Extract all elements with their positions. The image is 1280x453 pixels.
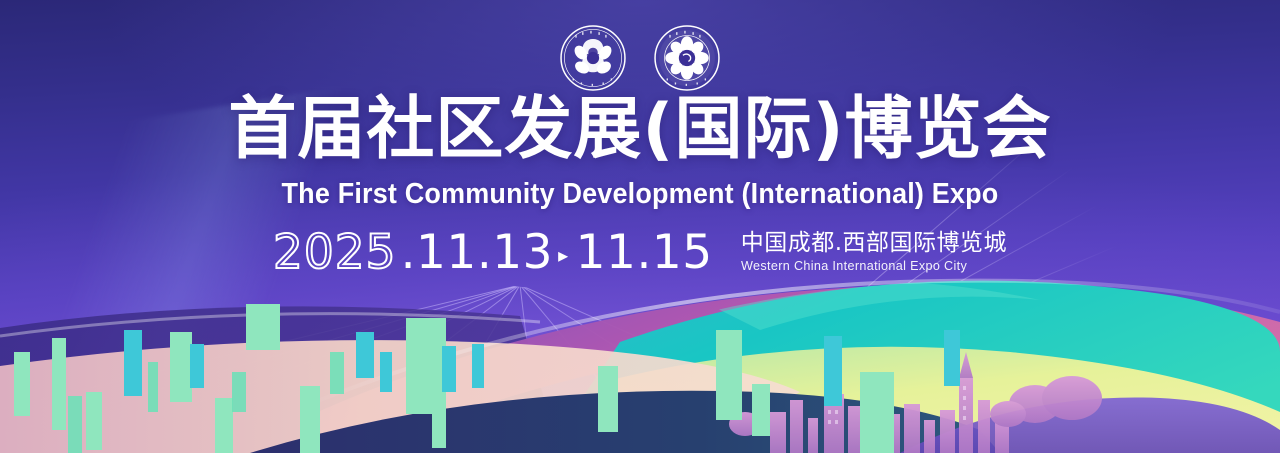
event-date-start: .11.13 xyxy=(401,229,554,276)
banner-content: 首届社区发展(国际)博览会 The First Community Develo… xyxy=(0,96,1280,276)
china-community-development-emblem-icon xyxy=(559,24,627,92)
expo-banner: 首届社区发展(国际)博览会 The First Community Develo… xyxy=(0,0,1280,453)
event-date-end: 11.15 xyxy=(576,229,713,276)
event-year: 2025 xyxy=(273,229,397,276)
event-venue-en: Western China International Expo City xyxy=(741,259,999,273)
event-dates: 2025 .11.13 ▸ 11.15 xyxy=(273,229,713,276)
date-arrow-icon: ▸ xyxy=(558,245,569,265)
event-venue-cn: 中国成都.西部国际博览城 xyxy=(741,230,1007,256)
event-title-en: The First Community Development (Interna… xyxy=(45,178,1235,211)
event-venue: 中国成都.西部国际博览城 Western China International… xyxy=(741,230,1007,276)
event-title-cn: 首届社区发展(国际)博览会 xyxy=(0,96,1280,164)
event-meta: 2025 .11.13 ▸ 11.15 中国成都.西部国际博览城 Western… xyxy=(0,229,1280,276)
community-development-expo-emblem-icon xyxy=(653,24,721,92)
emblem-row xyxy=(0,24,1280,92)
